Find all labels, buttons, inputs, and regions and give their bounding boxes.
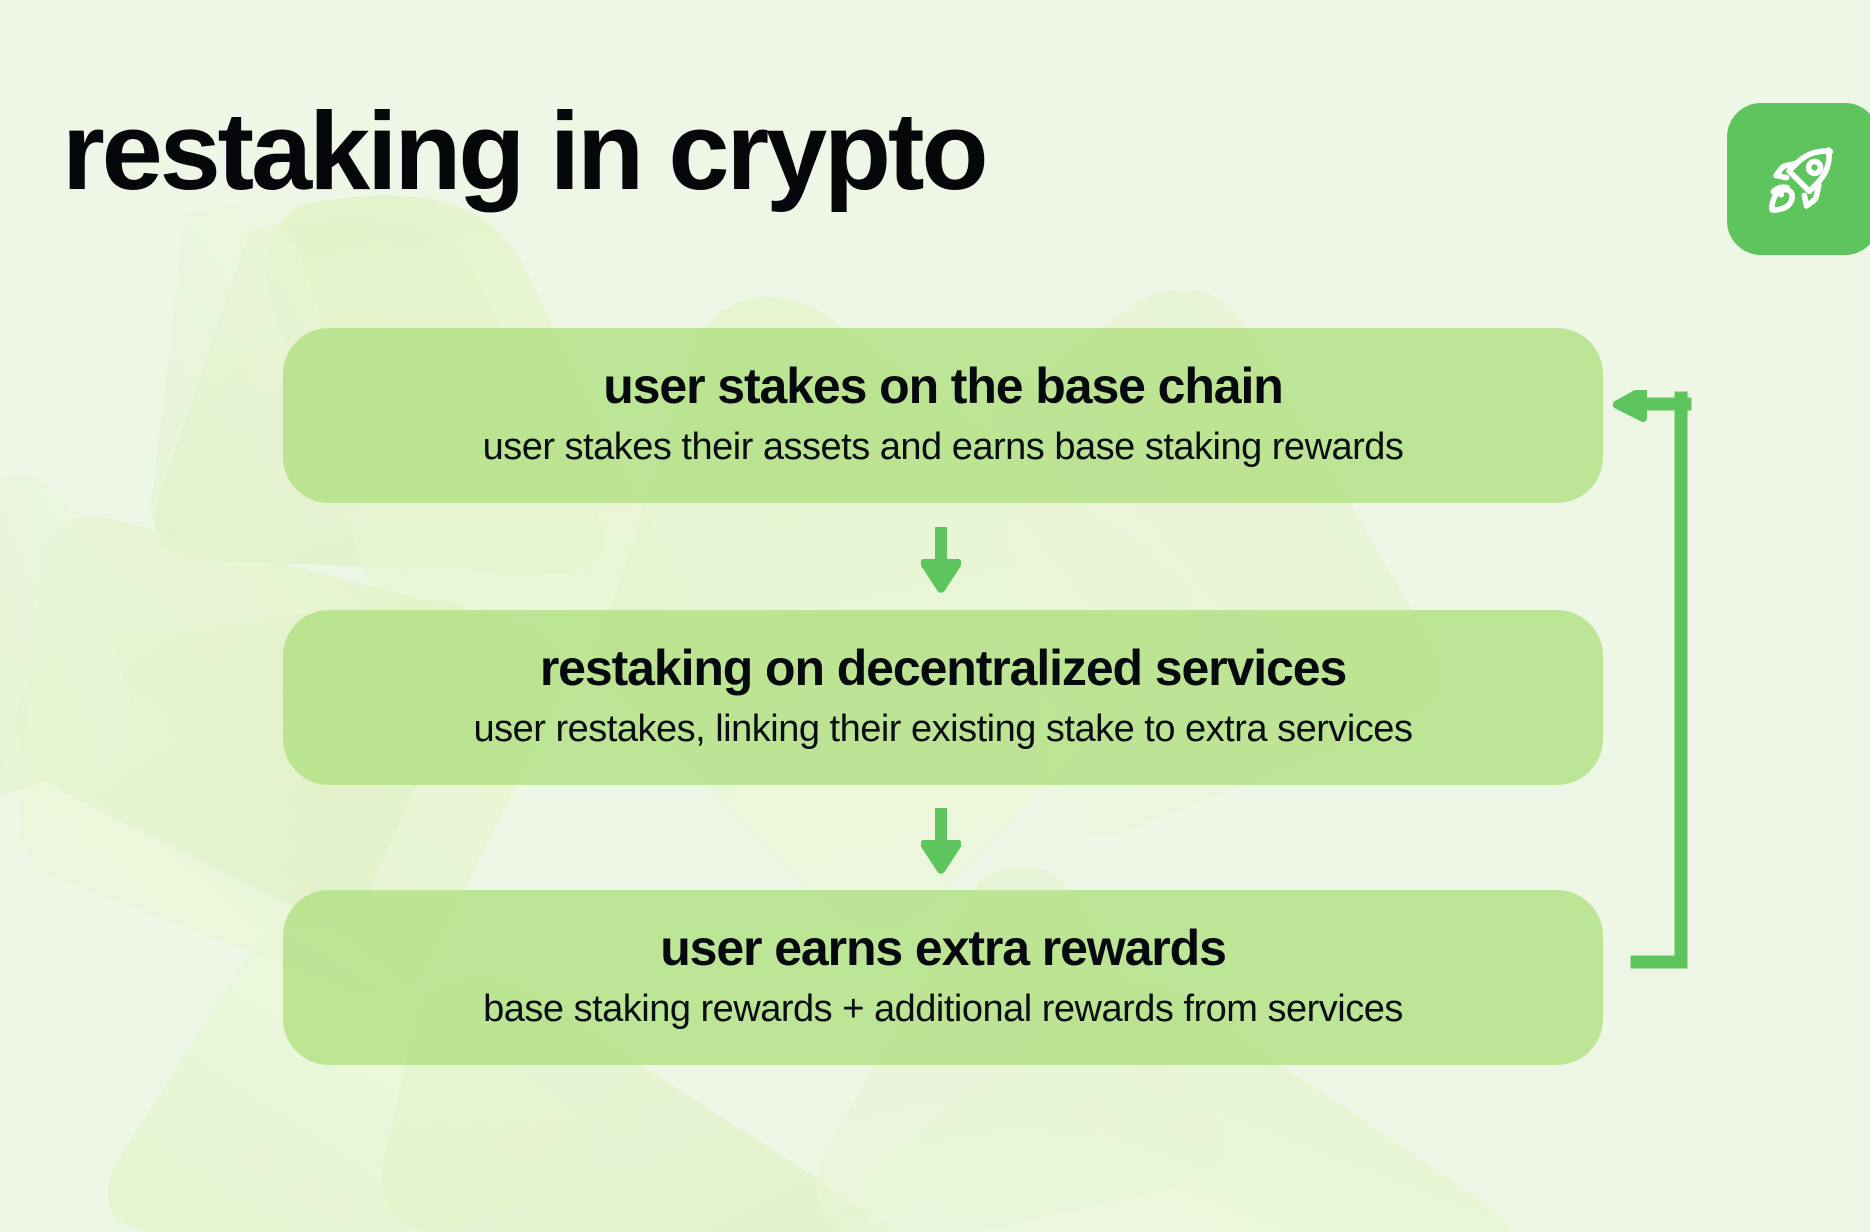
rocket-badge [1727,103,1870,255]
infographic-canvas: restaking in crypto user stakes on the b… [0,0,1870,1232]
step-subtitle: user stakes their assets and earns base … [483,427,1404,469]
rocket-icon [1761,137,1845,221]
step-subtitle: base staking rewards + additional reward… [483,989,1403,1031]
step-card-2: restaking on decentralized services user… [283,610,1603,785]
step-title: user earns extra rewards [660,921,1226,975]
loop-back-arrow-icon [1595,390,1725,990]
step-title: user stakes on the base chain [603,359,1283,413]
step-card-1: user stakes on the base chain user stake… [283,328,1603,503]
down-arrow-icon [921,527,961,597]
step-title: restaking on decentralized services [540,641,1346,695]
page-title: restaking in crypto [62,97,985,207]
step-subtitle: user restakes, linking their existing st… [474,709,1413,751]
down-arrow-icon [921,808,961,878]
step-card-3: user earns extra rewards base staking re… [283,890,1603,1065]
